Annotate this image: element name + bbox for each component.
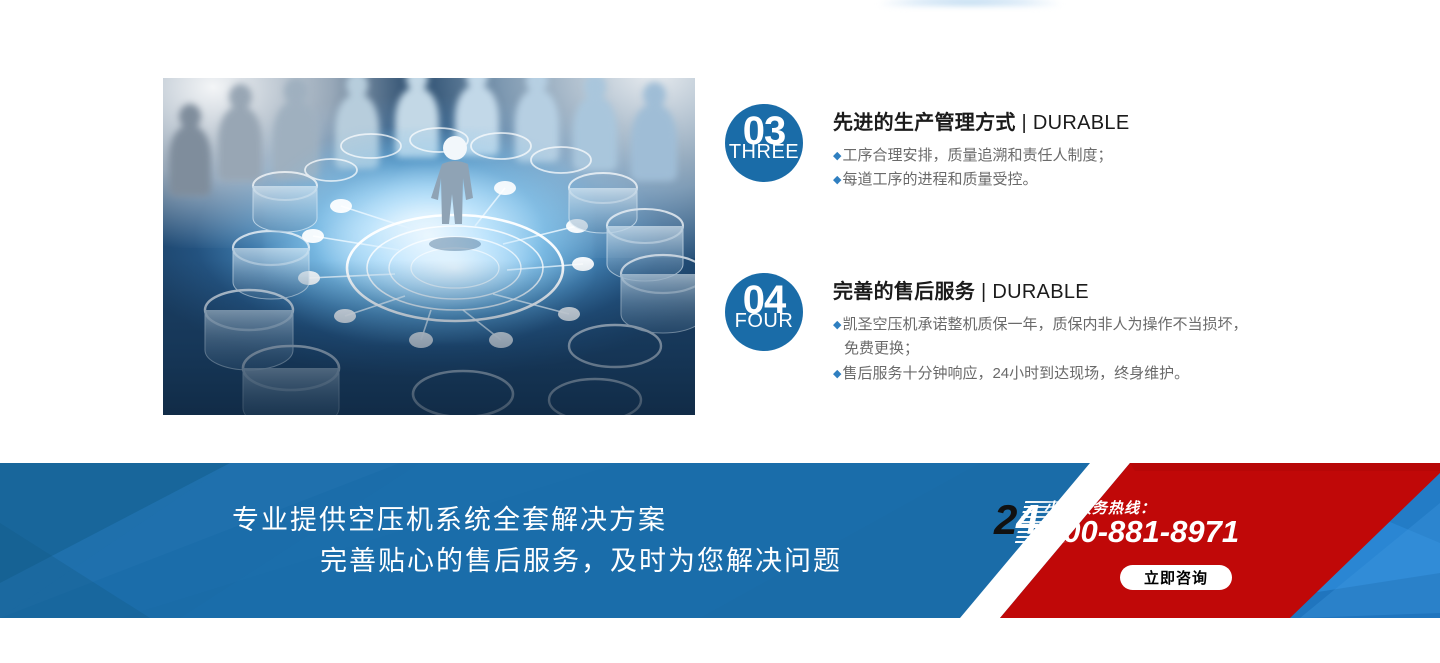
bullet-text: 工序合理安排，质量追溯和责任人制度； xyxy=(842,147,1112,164)
list-item: ◆每道工序的进程和质量受控。 xyxy=(833,168,1130,192)
feature-title-03: 先进的生产管理方式 | DURABLE xyxy=(833,106,1130,135)
bullet-diamond-icon: ◆ xyxy=(833,150,841,162)
consult-now-button[interactable]: 立即咨询 xyxy=(1120,565,1232,590)
feature-badge-04: 04 FOUR xyxy=(725,273,803,351)
feature-bullets-04: ◆凯圣空压机承诺整机质保一年，质保内非人为操作不当损坏，免费更换； ◆售后服务十… xyxy=(833,313,1259,386)
logo-digit-2: 2 xyxy=(994,497,1017,543)
list-item: ◆凯圣空压机承诺整机质保一年，质保内非人为操作不当损坏，免费更换； xyxy=(833,313,1259,362)
feature-title-separator: | xyxy=(975,281,992,303)
photo-floor-shadow xyxy=(163,260,695,415)
bullet-diamond-icon: ◆ xyxy=(833,174,841,186)
feature-block-04: 04 FOUR 完善的售后服务 | DURABLE ◆凯圣空压机承诺整机质保一年… xyxy=(725,273,1259,386)
logo-digit-4: 4 xyxy=(1016,497,1039,543)
banner-slogans: 专业提供空压机系统全套解决方案 完善贴心的售后服务，及时为您解决问题 xyxy=(0,463,960,618)
banner-slogan-1: 专业提供空压机系统全套解决方案 xyxy=(0,500,960,541)
feature-title-04: 完善的售后服务 | DURABLE xyxy=(833,275,1259,304)
feature-badge-03: 03 THREE xyxy=(725,104,803,182)
bullet-text: 每道工序的进程和质量受控。 xyxy=(842,171,1037,188)
network-connection-image xyxy=(163,78,695,415)
list-item: ◆售后服务十分钟响应，24小时到达现场，终身维护。 xyxy=(833,362,1259,386)
feature-title-en: DURABLE xyxy=(992,281,1089,303)
hotline-block: 2 4 小时服务热线： 400-881-8971 xyxy=(994,497,1244,557)
feature-bullets-03: ◆工序合理安排，质量追溯和责任人制度； ◆每道工序的进程和质量受控。 xyxy=(833,144,1130,193)
list-item: ◆工序合理安排，质量追溯和责任人制度； xyxy=(833,144,1130,168)
bullet-text: 凯圣空压机承诺整机质保一年，质保内非人为操作不当损坏，免费更换； xyxy=(842,316,1247,357)
feature-title-en: DURABLE xyxy=(1033,112,1130,134)
feature-body-03: 先进的生产管理方式 | DURABLE ◆工序合理安排，质量追溯和责任人制度； … xyxy=(833,104,1130,193)
bullet-diamond-icon: ◆ xyxy=(833,319,841,331)
feature-title-separator: | xyxy=(1016,112,1033,134)
bullet-diamond-icon: ◆ xyxy=(833,368,841,380)
bullet-text: 售后服务十分钟响应，24小时到达现场，终身维护。 xyxy=(842,365,1189,382)
feature-body-04: 完善的售后服务 | DURABLE ◆凯圣空压机承诺整机质保一年，质保内非人为操… xyxy=(833,273,1259,386)
feature-block-03: 03 THREE 先进的生产管理方式 | DURABLE ◆工序合理安排，质量追… xyxy=(725,104,1130,193)
top-cutoff-decoration xyxy=(880,0,1060,6)
hotline-phone-number: 400-881-8971 xyxy=(1046,514,1239,550)
badge-word: THREE xyxy=(725,142,803,162)
feature-title-cn: 完善的售后服务 xyxy=(833,281,975,303)
banner-slogan-2: 完善贴心的售后服务，及时为您解决问题 xyxy=(0,541,960,582)
feature-title-cn: 先进的生产管理方式 xyxy=(833,112,1016,134)
badge-word: FOUR xyxy=(725,311,803,331)
